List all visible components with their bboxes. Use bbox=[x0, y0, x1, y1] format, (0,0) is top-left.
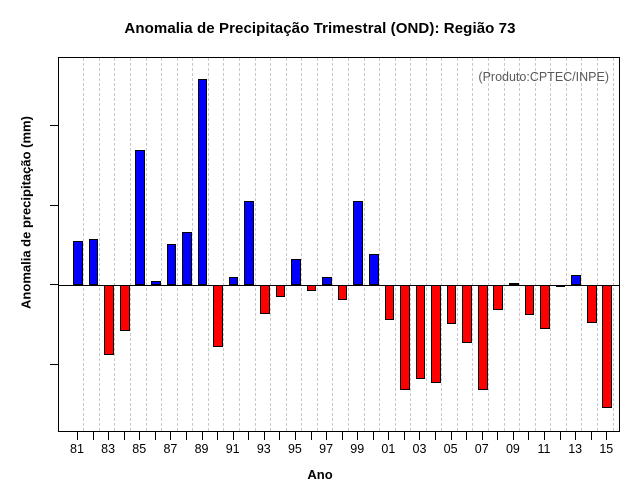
gridline bbox=[208, 58, 209, 431]
y-tick-mark bbox=[50, 205, 58, 206]
bar bbox=[89, 239, 99, 286]
x-tick-mark bbox=[124, 432, 125, 440]
bar bbox=[135, 150, 145, 286]
x-tick-label: 13 bbox=[568, 442, 582, 456]
gridline bbox=[535, 58, 536, 431]
x-tick-label: 91 bbox=[226, 442, 240, 456]
x-tick-mark bbox=[388, 432, 389, 440]
page-title: Anomalia de Precipitação Trimestral (OND… bbox=[0, 20, 640, 37]
gridline bbox=[364, 58, 365, 431]
x-tick-label: 93 bbox=[257, 442, 271, 456]
bar bbox=[353, 201, 363, 286]
gridline bbox=[255, 58, 256, 431]
gridline bbox=[301, 58, 302, 431]
y-axis-label: Anomalia de precipitação (mm) bbox=[19, 103, 34, 323]
x-tick-label: 07 bbox=[475, 442, 489, 456]
x-tick-mark bbox=[264, 432, 265, 440]
chart-page: Anomalia de Precipitação Trimestral (OND… bbox=[0, 0, 640, 500]
bar bbox=[244, 201, 254, 286]
x-tick-mark bbox=[93, 432, 94, 440]
gridline bbox=[114, 58, 115, 431]
bar bbox=[260, 285, 270, 314]
bar bbox=[120, 285, 130, 331]
x-tick-label: 89 bbox=[195, 442, 209, 456]
gridline bbox=[472, 58, 473, 431]
gridline bbox=[395, 58, 396, 431]
gridline bbox=[192, 58, 193, 431]
gridline bbox=[348, 58, 349, 431]
x-tick-mark bbox=[435, 432, 436, 440]
gridline bbox=[566, 58, 567, 431]
x-tick-label: 95 bbox=[288, 442, 302, 456]
x-tick-label: 01 bbox=[381, 442, 395, 456]
gridline bbox=[130, 58, 131, 431]
x-tick-mark bbox=[139, 432, 140, 440]
x-tick-mark bbox=[77, 432, 78, 440]
gridline bbox=[581, 58, 582, 431]
gridline bbox=[317, 58, 318, 431]
x-tick-label: 97 bbox=[319, 442, 333, 456]
x-tick-mark bbox=[451, 432, 452, 440]
bar bbox=[182, 232, 192, 285]
plot-area: (Produto:CPTEC/INPE) bbox=[58, 57, 620, 432]
x-tick-label: 85 bbox=[132, 442, 146, 456]
gridline bbox=[550, 58, 551, 431]
bar bbox=[104, 285, 114, 355]
source-annotation: (Produto:CPTEC/INPE) bbox=[478, 70, 609, 84]
x-tick-mark bbox=[513, 432, 514, 440]
gridline bbox=[99, 58, 100, 431]
gridline bbox=[332, 58, 333, 431]
x-tick-label: 99 bbox=[350, 442, 364, 456]
x-tick-mark bbox=[606, 432, 607, 440]
gridline bbox=[426, 58, 427, 431]
gridline bbox=[441, 58, 442, 431]
bar bbox=[400, 285, 410, 390]
x-tick-mark bbox=[357, 432, 358, 440]
bar bbox=[338, 285, 348, 300]
bar bbox=[229, 277, 239, 286]
x-tick-mark bbox=[326, 432, 327, 440]
x-tick-mark bbox=[373, 432, 374, 440]
x-tick-label: 87 bbox=[163, 442, 177, 456]
bar bbox=[462, 285, 472, 343]
x-tick-mark bbox=[419, 432, 420, 440]
x-tick-mark bbox=[233, 432, 234, 440]
gridline bbox=[410, 58, 411, 431]
y-tick-mark bbox=[50, 364, 58, 365]
x-tick-mark bbox=[186, 432, 187, 440]
bar bbox=[291, 259, 301, 286]
gridline bbox=[83, 58, 84, 431]
x-tick-label: 15 bbox=[599, 442, 613, 456]
gridline bbox=[597, 58, 598, 431]
x-tick-label: 11 bbox=[538, 442, 551, 456]
x-tick-label: 09 bbox=[506, 442, 520, 456]
bar bbox=[540, 285, 550, 329]
plot-inner bbox=[59, 58, 619, 431]
gridline bbox=[613, 58, 614, 431]
y-tick-mark bbox=[50, 125, 58, 126]
x-tick-mark bbox=[482, 432, 483, 440]
x-tick-mark bbox=[202, 432, 203, 440]
gridline bbox=[270, 58, 271, 431]
gridline bbox=[504, 58, 505, 431]
bar bbox=[213, 285, 223, 347]
x-tick-mark bbox=[217, 432, 218, 440]
x-tick-mark bbox=[528, 432, 529, 440]
x-tick-mark bbox=[560, 432, 561, 440]
x-tick-label: 03 bbox=[413, 442, 427, 456]
gridline bbox=[223, 58, 224, 431]
gridline bbox=[177, 58, 178, 431]
bar bbox=[602, 285, 612, 408]
gridline bbox=[146, 58, 147, 431]
x-tick-label: 83 bbox=[101, 442, 115, 456]
x-axis-label: Ano bbox=[0, 467, 640, 482]
gridline bbox=[239, 58, 240, 431]
x-tick-mark bbox=[466, 432, 467, 440]
x-tick-mark bbox=[591, 432, 592, 440]
bar bbox=[167, 244, 177, 286]
x-tick-mark bbox=[342, 432, 343, 440]
x-tick-mark bbox=[311, 432, 312, 440]
bar bbox=[369, 254, 379, 285]
bar bbox=[587, 285, 597, 323]
bar bbox=[416, 285, 426, 379]
x-tick-mark bbox=[575, 432, 576, 440]
zero-baseline bbox=[59, 285, 619, 286]
x-tick-label: 05 bbox=[444, 442, 458, 456]
x-tick-label: 81 bbox=[70, 442, 84, 456]
bar bbox=[571, 275, 581, 285]
bar bbox=[431, 285, 441, 383]
gridline bbox=[379, 58, 380, 431]
x-tick-mark bbox=[497, 432, 498, 440]
bar bbox=[447, 285, 457, 324]
x-tick-mark bbox=[108, 432, 109, 440]
bar bbox=[385, 285, 395, 320]
bar bbox=[478, 285, 488, 390]
bar bbox=[276, 285, 286, 296]
x-tick-mark bbox=[248, 432, 249, 440]
bar bbox=[525, 285, 535, 314]
gridline bbox=[286, 58, 287, 431]
x-tick-mark bbox=[404, 432, 405, 440]
bar bbox=[198, 79, 208, 285]
gridline bbox=[457, 58, 458, 431]
bar bbox=[322, 277, 332, 285]
y-tick-mark bbox=[50, 284, 58, 285]
gridline bbox=[488, 58, 489, 431]
x-tick-mark bbox=[155, 432, 156, 440]
x-tick-mark bbox=[170, 432, 171, 440]
gridline bbox=[161, 58, 162, 431]
gridline bbox=[519, 58, 520, 431]
x-tick-mark bbox=[295, 432, 296, 440]
bar bbox=[73, 241, 83, 286]
x-tick-mark bbox=[279, 432, 280, 440]
bar bbox=[493, 285, 503, 310]
x-tick-mark bbox=[544, 432, 545, 440]
